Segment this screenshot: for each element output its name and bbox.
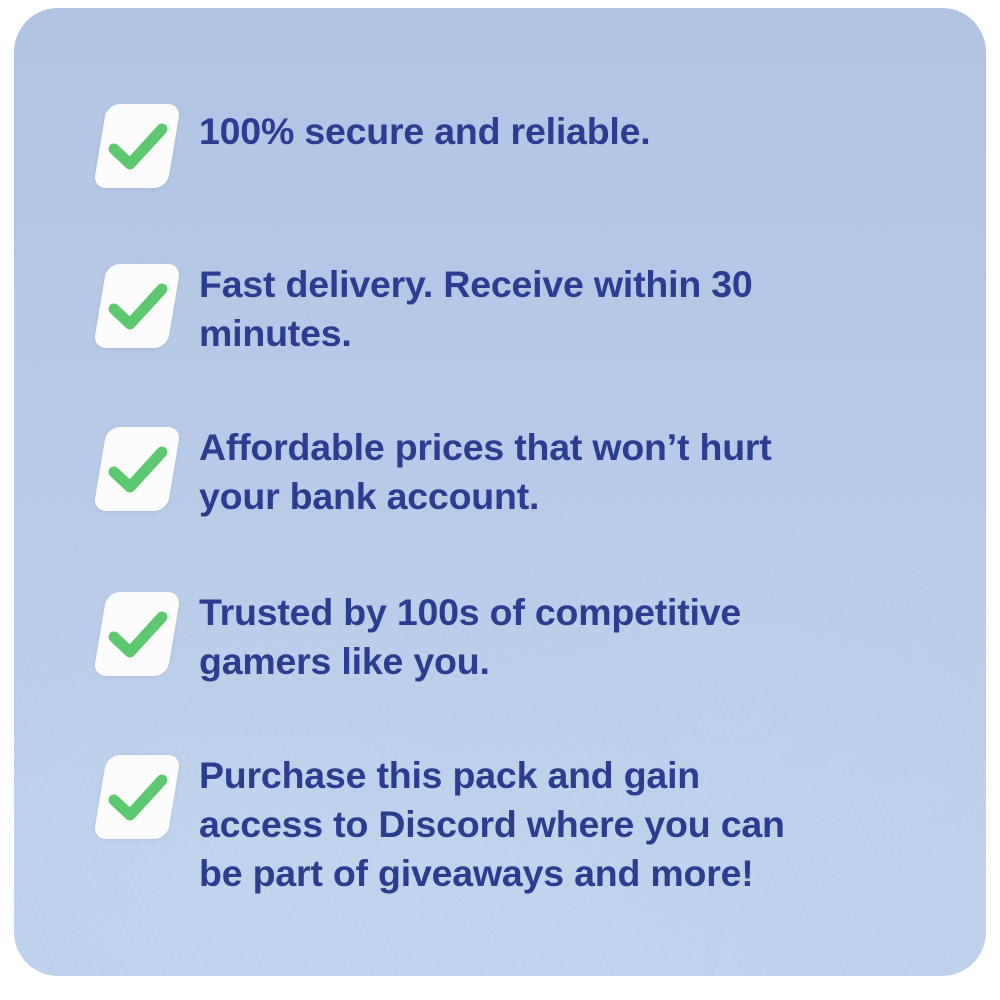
check-mark-glyph <box>105 277 171 337</box>
benefits-list: 100% secure and reliable. Fast delivery.… <box>14 8 986 976</box>
check-mark-glyph <box>105 117 171 177</box>
check-mark-glyph <box>105 768 171 828</box>
check-mark-icon <box>100 592 174 676</box>
check-mark-icon <box>100 104 174 188</box>
check-mark-icon <box>100 755 174 839</box>
check-mark-icon <box>100 264 174 348</box>
benefit-item-label: Purchase this pack and gain access to Di… <box>199 751 785 898</box>
benefit-item-secure-reliable: 100% secure and reliable. <box>100 104 651 188</box>
benefits-card: 100% secure and reliable. Fast delivery.… <box>14 8 986 976</box>
benefit-item-fast-delivery: Fast delivery. Receive within 30 minutes… <box>100 264 753 358</box>
check-mark-glyph <box>105 440 171 500</box>
benefit-item-affordable-prices: Affordable prices that won’t hurt your b… <box>100 427 772 521</box>
benefit-item-label: 100% secure and reliable. <box>199 107 651 156</box>
check-mark-icon <box>100 427 174 511</box>
benefit-item-label: Fast delivery. Receive within 30 minutes… <box>199 260 753 358</box>
check-mark-glyph <box>105 605 171 665</box>
benefit-item-label: Trusted by 100s of competitive gamers li… <box>199 588 741 686</box>
benefit-item-discord-access: Purchase this pack and gain access to Di… <box>100 755 785 898</box>
screenshot-stage: 100% secure and reliable. Fast delivery.… <box>0 0 1000 1000</box>
benefit-item-label: Affordable prices that won’t hurt your b… <box>199 423 772 521</box>
benefit-item-trusted-gamers: Trusted by 100s of competitive gamers li… <box>100 592 741 686</box>
